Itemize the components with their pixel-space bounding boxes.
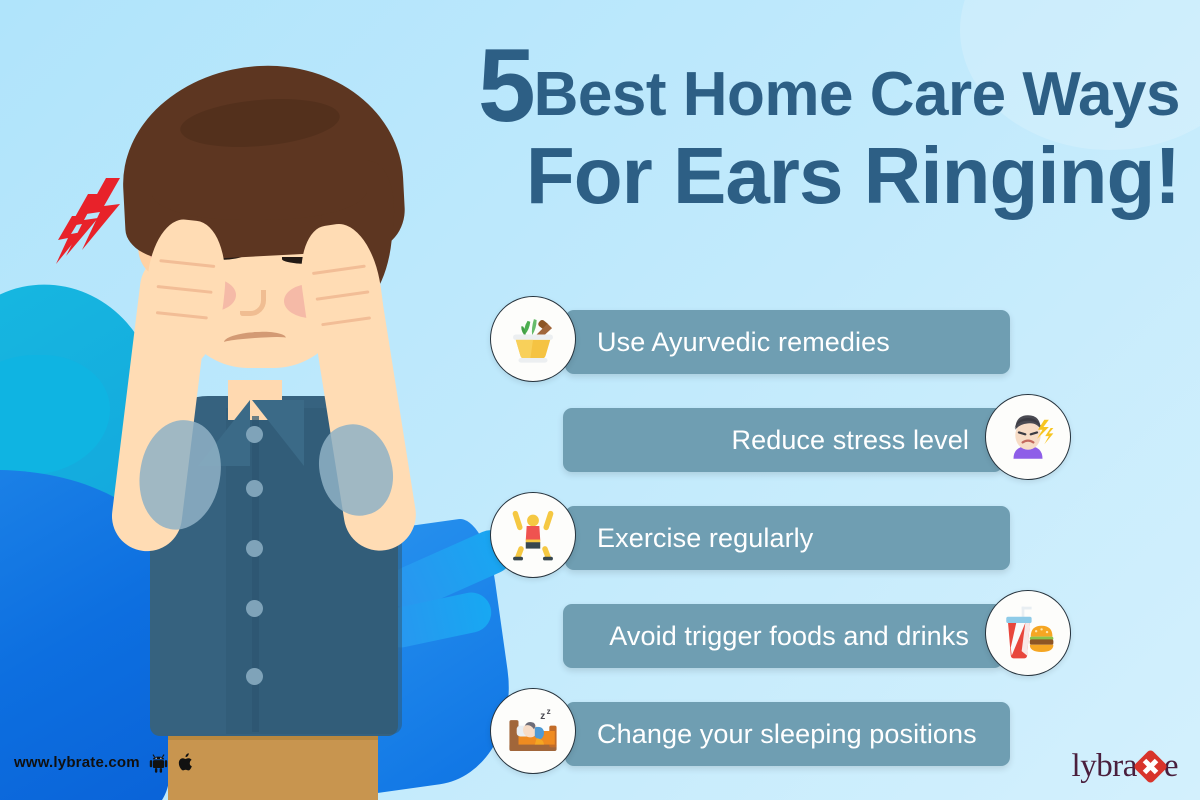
tip-icon-circle — [490, 296, 576, 382]
tinnitus-lightning-bolts-icon — [54, 176, 150, 272]
svg-text:z: z — [547, 707, 551, 716]
svg-text:z: z — [540, 711, 545, 722]
list-item[interactable]: Avoid trigger foods and drinks — [480, 590, 1080, 688]
sleeping-bed-icon: z z — [504, 702, 562, 760]
tip-bar[interactable]: Change your sleeping positions — [565, 702, 1010, 766]
character-shirt-button — [246, 600, 263, 617]
tip-bar[interactable]: Use Ayurvedic remedies — [565, 310, 1010, 374]
title-line-one: 5Best Home Care Ways — [390, 34, 1180, 138]
infographic-canvas: 5Best Home Care Ways For Ears Ringing! U… — [0, 0, 1200, 800]
character-shirt-button — [246, 540, 263, 557]
list-item[interactable]: Change your sleeping positions z z — [480, 688, 1080, 786]
android-icon[interactable] — [149, 752, 168, 773]
tip-bar[interactable]: Exercise regularly — [565, 506, 1010, 570]
character-hair-bangs — [152, 158, 367, 220]
character-shirt-button — [246, 668, 263, 685]
tip-icon-circle — [985, 590, 1071, 676]
brand-text-prefix: lybra — [1072, 748, 1137, 785]
list-item[interactable]: Exercise regularly — [480, 492, 1080, 590]
title-number: 5 — [478, 28, 534, 144]
list-item[interactable]: Use Ayurvedic remedies — [480, 296, 1080, 394]
tip-label: Use Ayurvedic remedies — [597, 327, 890, 358]
tips-list: Use Ayurvedic remedies Reduce s — [480, 296, 1080, 786]
tip-icon-circle: z z — [490, 688, 576, 774]
title-line-two: For Ears Ringing! — [390, 134, 1180, 218]
lybrate-logo[interactable]: lybra e — [1072, 748, 1178, 785]
tip-label: Exercise regularly — [597, 523, 813, 554]
plus-diamond-icon — [1133, 749, 1168, 784]
title-block: 5Best Home Care Ways For Ears Ringing! — [390, 34, 1180, 218]
tip-icon-circle — [985, 394, 1071, 480]
tip-bar[interactable]: Avoid trigger foods and drinks — [563, 604, 1003, 668]
tip-icon-circle — [490, 492, 576, 578]
footer-website-block: www.lybrate.com — [14, 752, 196, 773]
character-shirt-button — [246, 426, 263, 443]
tip-label: Avoid trigger foods and drinks — [609, 621, 969, 652]
mortar-pestle-icon — [504, 310, 562, 368]
soda-burger-icon — [999, 604, 1057, 662]
tip-label: Reduce stress level — [731, 425, 969, 456]
website-url[interactable]: www.lybrate.com — [14, 754, 140, 771]
list-item[interactable]: Reduce stress level — [480, 394, 1080, 492]
exercise-person-icon — [504, 506, 562, 564]
tip-label: Change your sleeping positions — [597, 719, 977, 750]
tip-bar[interactable]: Reduce stress level — [563, 408, 1003, 472]
stressed-person-icon — [999, 408, 1057, 466]
title-line-one-text: Best Home Care Ways — [534, 60, 1180, 129]
character-shirt-button — [246, 480, 263, 497]
apple-icon[interactable] — [177, 752, 196, 773]
